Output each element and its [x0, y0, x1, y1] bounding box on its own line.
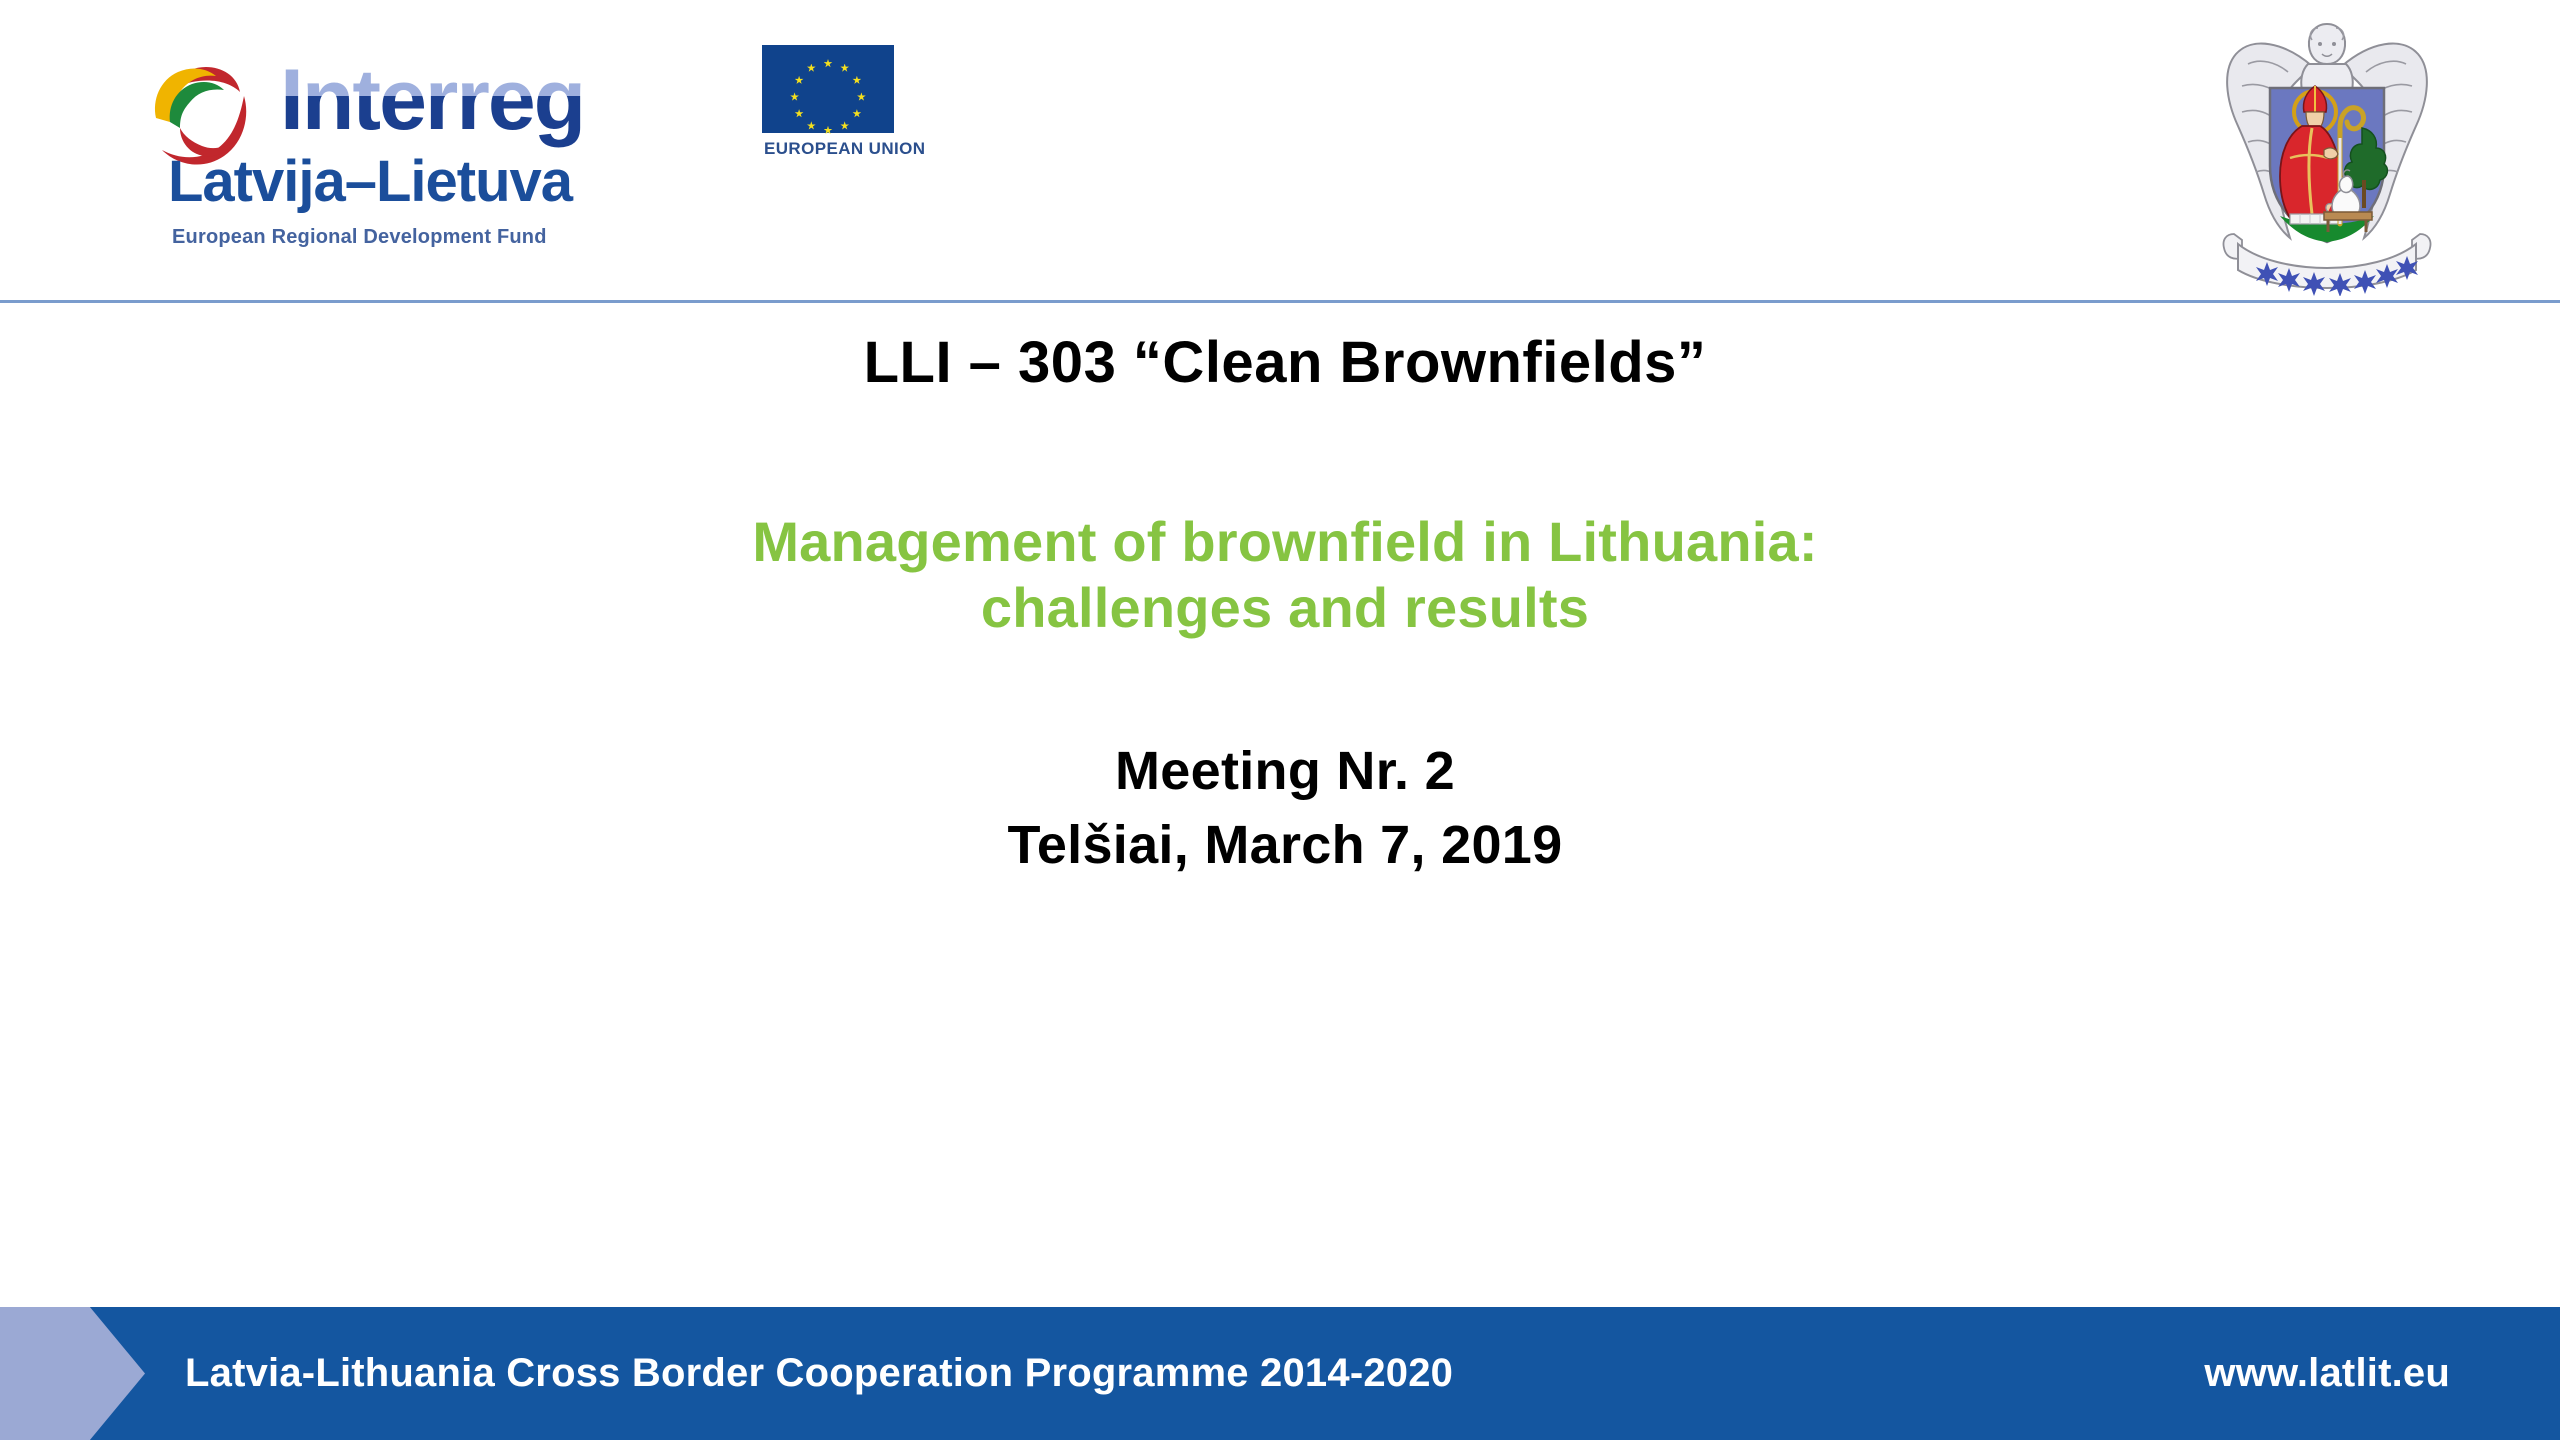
- eu-caption-label: EUROPEAN UNION: [764, 139, 925, 159]
- slide-header: Interreg Latvija–Lietuva European Region…: [0, 0, 2560, 302]
- subtitle-meeting-spacer: [0, 641, 2560, 739]
- interreg-programme-name: Latvija–Lietuva: [168, 148, 572, 215]
- header-divider: [0, 300, 2560, 303]
- interreg-wordmark: Interreg: [280, 50, 750, 150]
- page-title: LLI – 303 “Clean Brownfields”: [0, 330, 2560, 397]
- meeting-line-gap: [0, 805, 2560, 813]
- footer-programme-label: Latvia-Lithuania Cross Border Cooperatio…: [185, 1307, 1453, 1440]
- slide-body: LLI – 303 “Clean Brownfields” Management…: [0, 330, 2560, 879]
- title-subtitle-spacer: [0, 397, 2560, 509]
- interreg-fund-label: European Regional Development Fund: [172, 226, 547, 249]
- telsiai-coat-of-arms-icon: [2212, 8, 2442, 296]
- slide-canvas: Interreg Latvija–Lietuva European Region…: [0, 0, 2560, 1440]
- footer-website-link[interactable]: www.latlit.eu: [2204, 1307, 2450, 1440]
- meeting-number: Meeting Nr. 2: [0, 739, 2560, 805]
- meeting-location-date: Telšiai, March 7, 2019: [0, 813, 2560, 879]
- slide-footer: Latvia-Lithuania Cross Border Cooperatio…: [0, 1307, 2560, 1440]
- european-union-logo: EUROPEAN UNION: [762, 45, 912, 165]
- slide-subtitle-line-2: challenges and results: [0, 575, 2560, 641]
- slide-subtitle-line-1: Management of brownfield in Lithuania:: [0, 509, 2560, 575]
- eu-flag-icon: [762, 45, 894, 133]
- interreg-wordmark-text: Interreg: [280, 50, 750, 150]
